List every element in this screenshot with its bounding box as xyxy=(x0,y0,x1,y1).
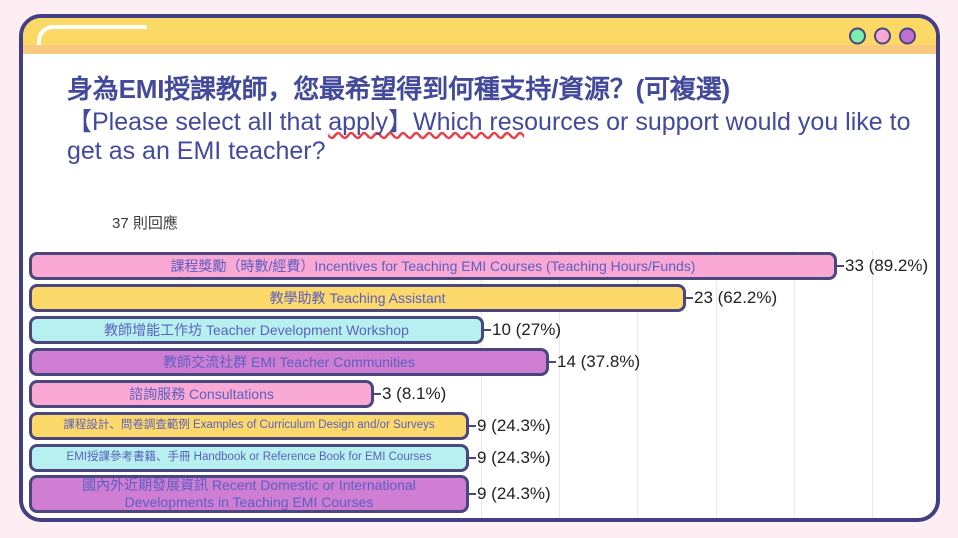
titlebar-accent-strip xyxy=(23,45,936,54)
chart-row: 課程獎勵（時數/經費）Incentives for Teaching EMI C… xyxy=(23,250,936,282)
bar-label: 課程獎勵（時數/經費）Incentives for Teaching EMI C… xyxy=(165,258,702,275)
chart-row: 課程設計、問卷調查範例 Examples of Curriculum Desig… xyxy=(23,410,936,442)
value-connector xyxy=(484,329,491,331)
bar-4[interactable]: 諮詢服務 Consultations xyxy=(29,380,374,408)
dot-pink-icon[interactable] xyxy=(874,28,891,45)
value-connector xyxy=(469,457,476,459)
bar-value-label: 9 (24.3%) xyxy=(476,484,551,504)
bar-label: EMI授課參考書籍、手冊 Handbook or Reference Book … xyxy=(61,451,438,465)
response-count: 37 則回應 xyxy=(112,212,178,233)
bar-value-label: 9 (24.3%) xyxy=(476,448,551,468)
bar-label: 教師增能工作坊 Teacher Development Workshop xyxy=(98,322,415,339)
value-connector xyxy=(469,425,476,427)
bar-7[interactable]: 國內外近期發展資訊 Recent Domestic or Internation… xyxy=(29,475,469,513)
bar-value-label: 10 (27%) xyxy=(491,320,561,340)
bar-chart: 課程獎勵（時數/經費）Incentives for Teaching EMI C… xyxy=(23,250,936,520)
bar-0[interactable]: 課程獎勵（時數/經費）Incentives for Teaching EMI C… xyxy=(29,252,837,280)
bar-6[interactable]: EMI授課參考書籍、手冊 Handbook or Reference Book … xyxy=(29,444,469,472)
question-text-pre: 【Please select all that xyxy=(67,108,328,136)
chart-rows: 課程獎勵（時數/經費）Incentives for Teaching EMI C… xyxy=(23,250,936,514)
bar-1[interactable]: 教學助教 Teaching Assistant xyxy=(29,284,686,312)
value-connector xyxy=(549,361,556,363)
window-titlebar xyxy=(23,18,936,54)
bar-label: 教師交流社群 EMI Teacher Communities xyxy=(157,354,421,371)
value-connector xyxy=(469,493,476,495)
slide-content: 身為EMI授課教師，您最希望得到何種支持/資源？(可複選) 【Please se… xyxy=(23,54,936,522)
question-line-chinese: 身為EMI授課教師，您最希望得到何種支持/資源？(可複選) xyxy=(67,74,912,105)
chart-row: EMI授課參考書籍、手冊 Handbook or Reference Book … xyxy=(23,442,936,474)
bar-value-label: 9 (24.3%) xyxy=(476,416,551,436)
value-connector xyxy=(686,297,693,299)
bar-label: 國內外近期發展資訊 Recent Domestic or Internation… xyxy=(32,477,466,510)
dot-green-icon[interactable] xyxy=(849,28,866,45)
chart-row: 國內外近期發展資訊 Recent Domestic or Internation… xyxy=(23,474,936,514)
chart-row: 教師交流社群 EMI Teacher Communities14 (37.8%) xyxy=(23,346,936,378)
page-title: 身為EMI授課教師，您最希望得到何種支持/資源？(可複選) 【Please se… xyxy=(67,74,912,167)
chart-row: 教學助教 Teaching Assistant23 (62.2%) xyxy=(23,282,936,314)
bar-2[interactable]: 教師增能工作坊 Teacher Development Workshop xyxy=(29,316,484,344)
bar-value-label: 23 (62.2%) xyxy=(693,288,777,308)
bar-5[interactable]: 課程設計、問卷調查範例 Examples of Curriculum Desig… xyxy=(29,412,469,440)
chart-row: 諮詢服務 Consultations3 (8.1%) xyxy=(23,378,936,410)
bar-label: 諮詢服務 Consultations xyxy=(123,386,280,403)
bar-label: 課程設計、問卷調查範例 Examples of Curriculum Desig… xyxy=(57,419,440,433)
bar-label: 教學助教 Teaching Assistant xyxy=(264,290,452,307)
value-connector xyxy=(837,265,844,267)
bar-value-label: 3 (8.1%) xyxy=(381,384,446,404)
bar-3[interactable]: 教師交流社群 EMI Teacher Communities xyxy=(29,348,549,376)
spellcheck-underlined-text: apply】Which res xyxy=(328,108,524,136)
presentation-window: 身為EMI授課教師，您最希望得到何種支持/資源？(可複選) 【Please se… xyxy=(19,14,940,522)
bar-value-label: 14 (37.8%) xyxy=(556,352,640,372)
bar-value-label: 33 (89.2%) xyxy=(844,256,928,276)
question-line-english: 【Please select all that apply】Which reso… xyxy=(67,108,912,167)
value-connector xyxy=(374,393,381,395)
window-controls[interactable] xyxy=(849,28,916,45)
chart-row: 教師增能工作坊 Teacher Development Workshop10 (… xyxy=(23,314,936,346)
dot-purple-icon[interactable] xyxy=(899,28,916,45)
titlebar-divider xyxy=(23,518,936,522)
